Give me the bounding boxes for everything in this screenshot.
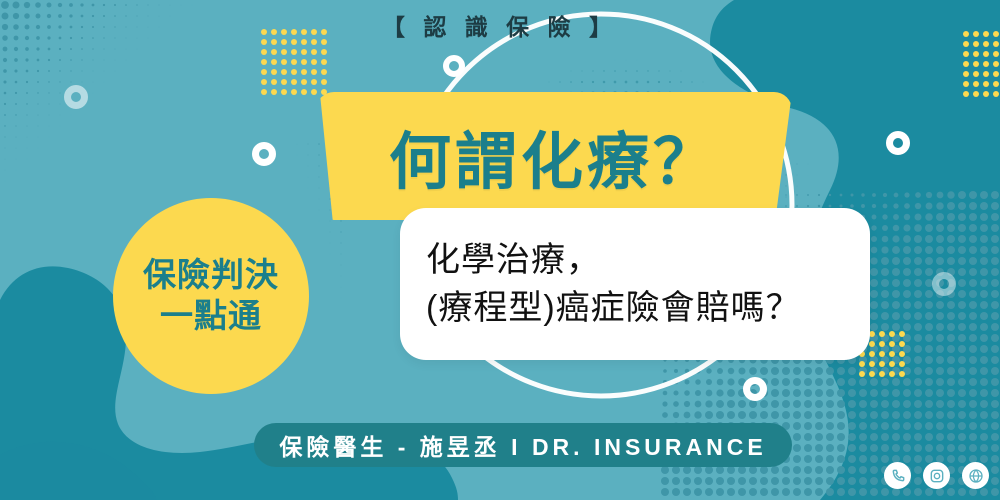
question-card: 化學治療， (療程型)癌症險會賠嗎？: [400, 208, 870, 360]
footer-brand-bar: 保險醫生 - 施昱丞 I DR. INSURANCE: [254, 423, 792, 467]
decorative-ring-2: [252, 142, 276, 166]
decorative-ring-3: [443, 55, 465, 77]
decorative-ring-6: [743, 377, 767, 401]
poster-canvas: 【 認 識 保 險 】 何謂化療？ 化學治療， (療程型)癌症險會賠嗎？ 保險判…: [0, 0, 1000, 500]
series-badge-line-2: 一點通: [160, 297, 262, 336]
series-badge-line-1: 保險判決: [143, 256, 279, 295]
series-badge: 保險判決 一點通: [113, 198, 309, 394]
question-line-1: 化學治療，: [426, 236, 870, 284]
question-line-2: (療程型)癌症險會賠嗎？: [426, 284, 870, 332]
phone-icon[interactable]: [884, 462, 911, 489]
decorative-ring-5: [932, 272, 956, 296]
social-icon-row: [884, 462, 989, 489]
footer-brand-text: 保險醫生 - 施昱丞 I DR. INSURANCE: [279, 428, 766, 462]
kicker-label: 【 認 識 保 險 】: [0, 8, 1000, 42]
website-icon[interactable]: [962, 462, 989, 489]
page-title: 何謂化療？: [389, 111, 719, 201]
decorative-ring-1: [64, 85, 88, 109]
decorative-ring-4: [886, 131, 910, 155]
title-banner: 何謂化療？: [316, 92, 792, 220]
instagram-icon[interactable]: [923, 462, 950, 489]
